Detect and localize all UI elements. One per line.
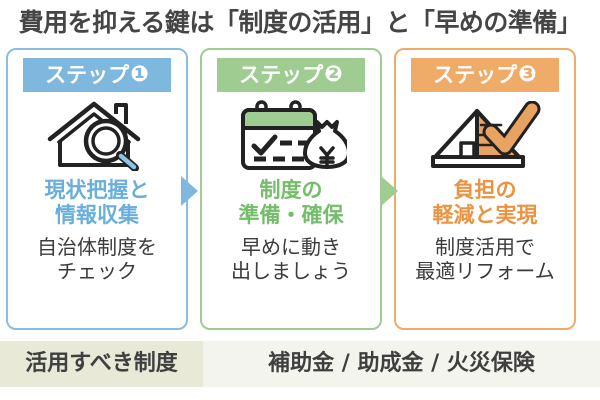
step-headline-1: 現状把握と 情報収集: [45, 178, 150, 228]
footer-value-cell: 補助金 / 助成金 / 火災保険: [203, 341, 600, 387]
step-badge-number-3: ❸: [518, 64, 537, 86]
calendar-moneybag-icon: [231, 100, 351, 172]
step-badge-text-3: ステップ: [433, 65, 517, 86]
step-subline-3: 制度活用で 最適リフォーム: [415, 235, 554, 283]
arrow-step1-to-step2: [181, 176, 198, 206]
arrow-step2-to-step3: [381, 176, 398, 206]
step-badge-label-3: ステップ❸: [433, 64, 537, 86]
step-card-1[interactable]: ステップ❶: [6, 48, 188, 330]
step-subline-1: 自治体制度を チェック: [37, 235, 157, 283]
footer-bar: 活用すべき制度 補助金 / 助成金 / 火災保険: [0, 341, 600, 387]
step-badge-label-2: ステップ❷: [239, 64, 343, 86]
step-badge-number-2: ❷: [324, 64, 343, 86]
step-badge-number-1: ❶: [130, 64, 149, 86]
steps-row: ステップ❶: [0, 48, 600, 330]
house-magnifier-icon: [37, 100, 157, 172]
step-badge-2: ステップ❷: [217, 58, 365, 92]
step-headline-2: 制度の 準備・確保: [239, 178, 344, 228]
house-check-icon: [425, 100, 545, 172]
step-badge-3: ステップ❸: [411, 58, 559, 92]
step-card-3[interactable]: ステップ❸: [394, 48, 576, 330]
infographic-root: 費用を抑える鍵は「制度の活用」と「早めの準備」 ステップ❶: [0, 0, 600, 400]
step-badge-1: ステップ❶: [23, 58, 171, 92]
footer-label: 活用すべき制度: [25, 353, 177, 375]
step-headline-3: 負担の 軽減と実現: [433, 178, 538, 228]
step-subline-2: 早めに動き 出しましょう: [231, 235, 351, 283]
step-badge-text-2: ステップ: [239, 65, 323, 86]
footer-label-cell: 活用すべき制度: [0, 341, 203, 387]
step-badge-text-1: ステップ: [45, 65, 129, 86]
page-title: 費用を抑える鍵は「制度の活用」と「早めの準備」: [19, 10, 582, 35]
step-card-2[interactable]: ステップ❷: [200, 48, 382, 330]
page-title-bar: 費用を抑える鍵は「制度の活用」と「早めの準備」: [0, 0, 600, 44]
step-badge-label-1: ステップ❶: [45, 64, 149, 86]
footer-value: 補助金 / 助成金 / 火災保険: [268, 353, 535, 375]
